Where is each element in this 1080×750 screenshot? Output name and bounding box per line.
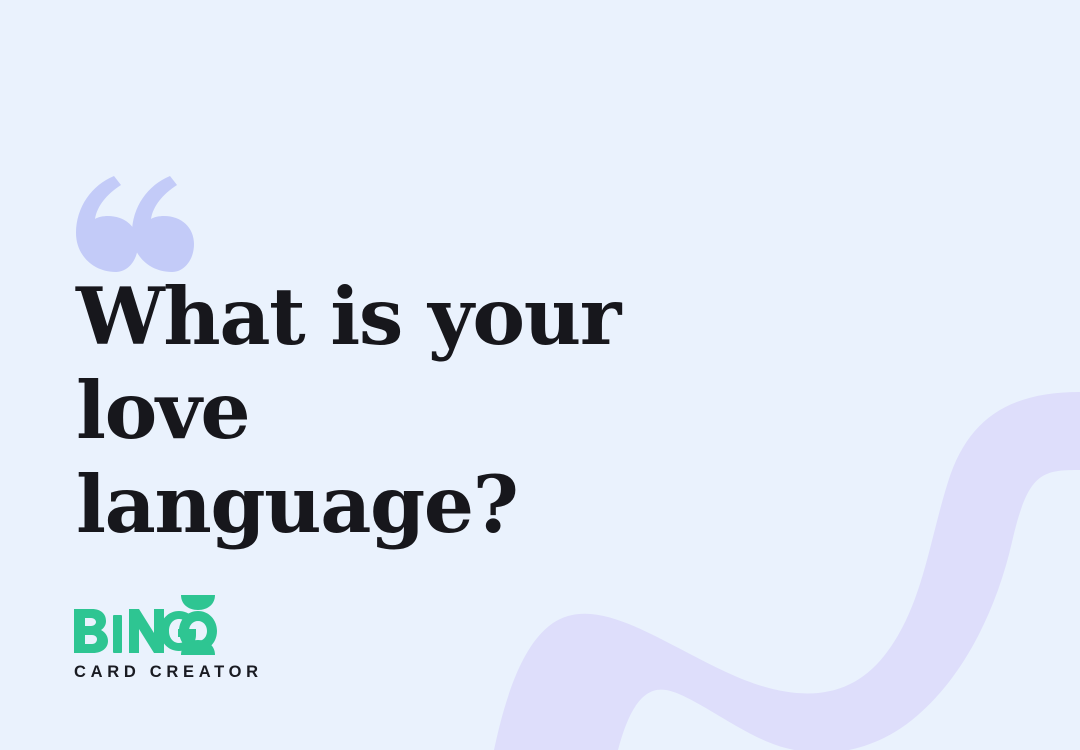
- question-card: What is your love language? CARD CREA: [0, 0, 1080, 750]
- bingo-wordmark-icon: [72, 595, 224, 655]
- brand-logo: CARD CREATOR: [72, 595, 312, 681]
- quote-mark-icon: [74, 176, 194, 272]
- question-headline: What is your love language?: [76, 270, 816, 552]
- logo-subtitle: CARD CREATOR: [72, 664, 312, 681]
